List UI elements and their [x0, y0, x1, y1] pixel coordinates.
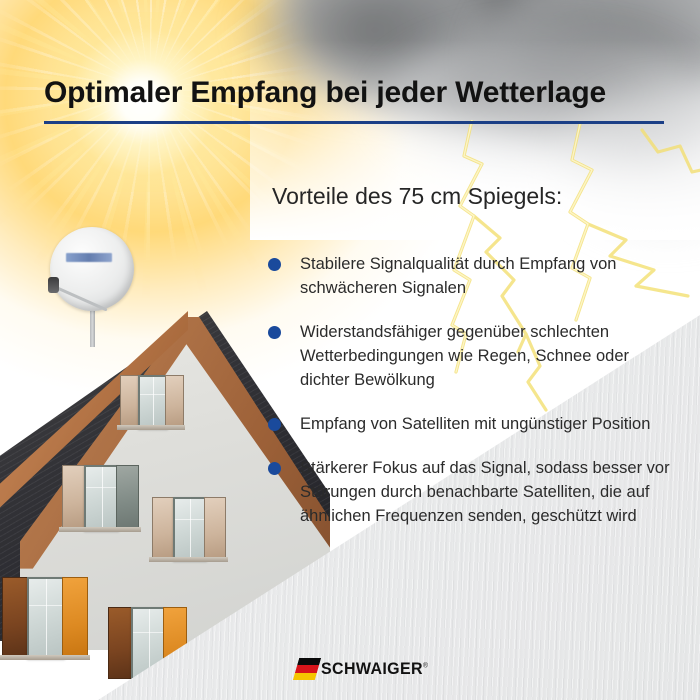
title-underline — [44, 121, 664, 124]
list-item-text: Stabilere Signalqualität durch Empfang v… — [300, 252, 678, 300]
list-item: Stärkerer Fokus auf das Signal, sodass b… — [268, 456, 678, 528]
dish-reflector — [50, 227, 134, 311]
list-item-text: Widerstandsfähiger gegenüber schlechten … — [300, 320, 678, 392]
brand-name-text: SCHWAIGER — [321, 659, 423, 678]
shutter — [62, 577, 88, 657]
window — [138, 375, 168, 429]
shutter — [62, 465, 85, 529]
german-flag-icon — [293, 658, 321, 680]
list-item-text: Stärkerer Fokus auf das Signal, sodass b… — [300, 456, 678, 528]
list-item: Empfang von Satelliten mit ungünstiger P… — [268, 412, 678, 436]
window — [84, 465, 119, 531]
window-sill — [149, 557, 228, 562]
trademark-symbol: ® — [423, 662, 428, 669]
brand-logo: SCHWAIGER® — [296, 658, 435, 680]
window-sill — [59, 527, 141, 532]
window-sill — [0, 655, 90, 660]
bullet-dot-icon — [268, 418, 281, 431]
list-item: Stabilere Signalqualität durch Empfang v… — [268, 252, 678, 300]
page-title: Optimaler Empfang bei jeder Wetterlage — [44, 76, 684, 110]
shutter — [165, 375, 184, 427]
brand-name: SCHWAIGER® — [321, 659, 428, 679]
window-sill — [117, 425, 185, 430]
subtitle: Vorteile des 75 cm Spiegels: — [272, 183, 562, 210]
window — [173, 497, 207, 561]
list-item: Widerstandsfähiger gegenüber schlechten … — [268, 320, 678, 392]
shutter — [204, 497, 226, 559]
bullet-dot-icon — [268, 326, 281, 339]
list-item-text: Empfang von Satelliten mit ungünstiger P… — [300, 412, 678, 436]
dish-brand-label — [66, 253, 112, 262]
poster-canvas: Optimaler Empfang bei jeder Wetterlage V… — [0, 0, 700, 700]
bullet-dot-icon — [268, 258, 281, 271]
shutter — [108, 607, 132, 679]
shutter — [116, 465, 139, 529]
bullet-dot-icon — [268, 462, 281, 475]
dish-lnb — [48, 277, 59, 293]
shutter — [152, 497, 174, 559]
shutter — [2, 577, 28, 657]
benefits-list: Stabilere Signalqualität durch Empfang v… — [268, 252, 678, 548]
shutter — [120, 375, 139, 427]
satellite-dish-icon — [42, 225, 152, 335]
dish-mast — [90, 305, 95, 347]
window — [27, 577, 65, 659]
